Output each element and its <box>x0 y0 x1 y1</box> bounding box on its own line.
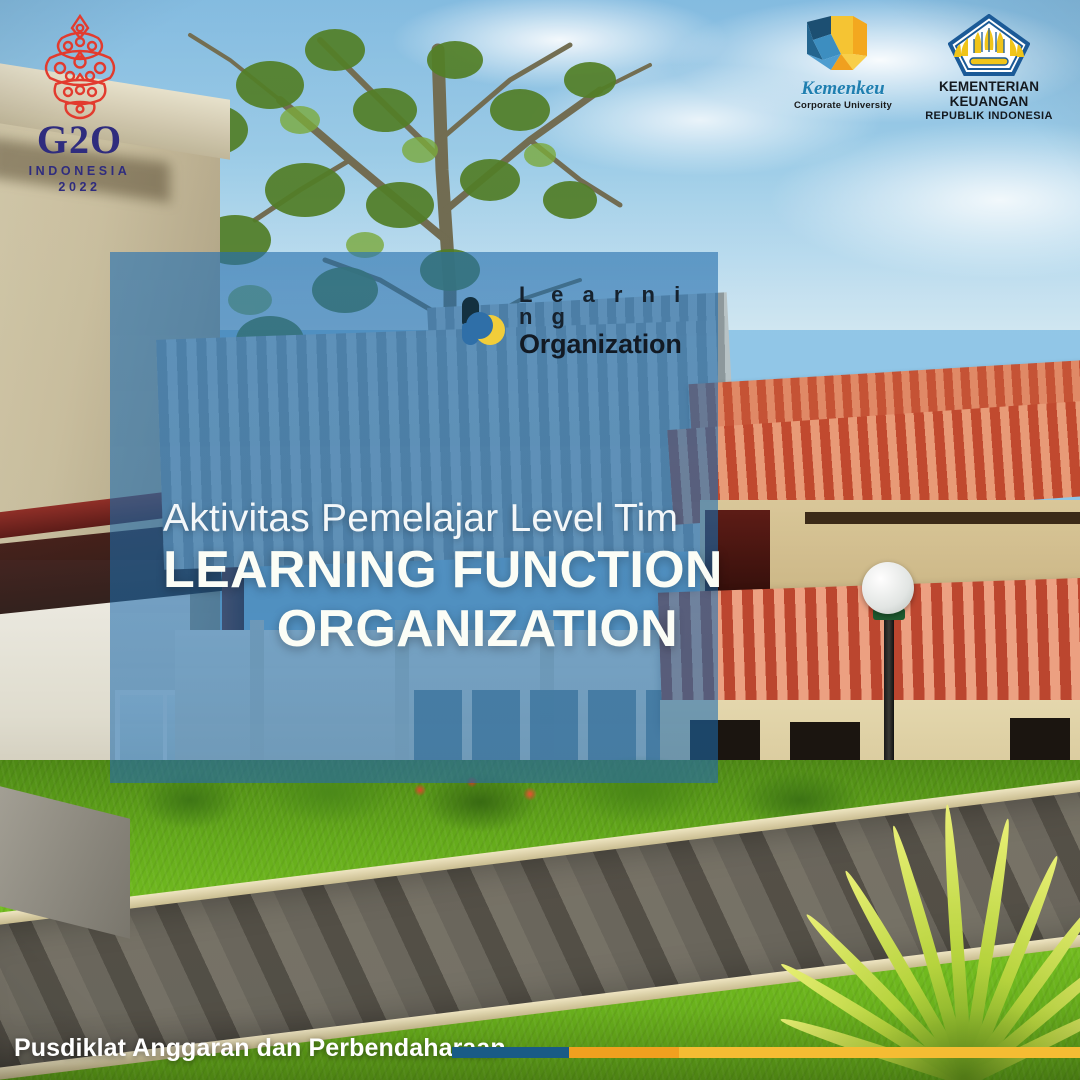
headline-title-line2: ORGANIZATION <box>163 600 678 659</box>
footer-organization-name: Pusdiklat Anggaran dan Perbendaharaan <box>14 1034 506 1063</box>
logo-line-organization: Organization <box>519 331 718 358</box>
learning-organization-logo: L e a r n i n g Organization <box>462 284 718 358</box>
g20-year: 2022 <box>17 180 142 194</box>
poster: L e a r n i n g Organization Aktivitas P… <box>0 0 1080 1080</box>
ministry-name-line2: REPUBLIK INDONESIA <box>914 110 1064 122</box>
kemenkeu-corporate-university-logo: Kemenkeu Corporate University <box>788 14 898 111</box>
g20-wordmark: G2O <box>17 120 142 160</box>
kementerian-keuangan-logo: KEMENTERIAN KEUANGAN REPUBLIK INDONESIA <box>914 14 1064 122</box>
headline-title-line1: LEARNING FUNCTION <box>163 541 678 600</box>
g20-country: INDONESIA <box>17 164 142 178</box>
ministry-of-finance-seal-icon <box>948 14 1030 76</box>
kemenkeu-subtitle: Corporate University <box>788 100 898 111</box>
footer-bar-orange <box>569 1047 679 1058</box>
footer-bar-blue <box>452 1047 569 1058</box>
g20-logo: G2O INDONESIA 2022 <box>17 12 142 194</box>
ministry-name-line1: KEMENTERIAN KEUANGAN <box>914 79 1064 109</box>
kemenkeu-cu-mark-icon <box>801 14 885 76</box>
learning-organization-wordmark: L e a r n i n g Organization <box>519 284 718 358</box>
moon-bracket-icon <box>462 297 506 345</box>
g20-batik-ornament-icon <box>36 12 124 124</box>
top-right-logos: Kemenkeu Corporate University <box>788 14 1064 122</box>
footer-bar-yellow <box>679 1047 1080 1058</box>
content-overlay-panel: L e a r n i n g Organization Aktivitas P… <box>110 252 718 783</box>
footer: Pusdiklat Anggaran dan Perbendaharaan <box>0 1008 1080 1080</box>
headline-subtitle: Aktivitas Pemelajar Level Tim <box>163 497 678 541</box>
headline-block: Aktivitas Pemelajar Level Tim LEARNING F… <box>110 497 718 660</box>
kemenkeu-title: Kemenkeu <box>788 79 898 98</box>
logo-line-learning: L e a r n i n g <box>519 284 718 328</box>
